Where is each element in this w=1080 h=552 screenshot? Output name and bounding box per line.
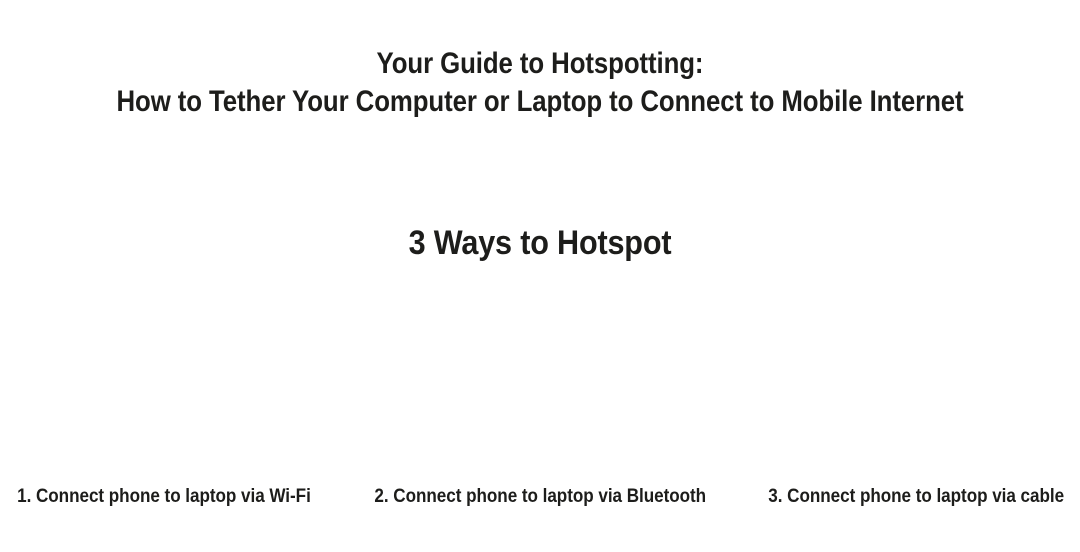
section-heading: 3 Ways to Hotspot (54, 222, 1026, 264)
page-title-line-1: Your Guide to Hotspotting: (76, 45, 1005, 83)
infographic-page: Your Guide to Hotspotting: How to Tether… (0, 0, 1080, 552)
step-caption-wifi: 1. Connect phone to laptop via Wi-Fi (0, 486, 321, 508)
page-title: Your Guide to Hotspotting: How to Tether… (0, 45, 1080, 121)
step-caption-bluetooth: 2. Connect phone to laptop via Bluetooth (375, 486, 707, 508)
step-caption-cable: 3. Connect phone to laptop via cable (760, 486, 1080, 508)
illustration-band (0, 278, 1080, 478)
illustration-slot-wifi (0, 278, 360, 478)
illustration-slot-cable (720, 278, 1080, 478)
step-captions-row: 1. Connect phone to laptop via Wi-Fi 2. … (0, 486, 1080, 512)
page-title-line-2: How to Tether Your Computer or Laptop to… (76, 83, 1005, 121)
illustration-slot-bluetooth (360, 278, 720, 478)
